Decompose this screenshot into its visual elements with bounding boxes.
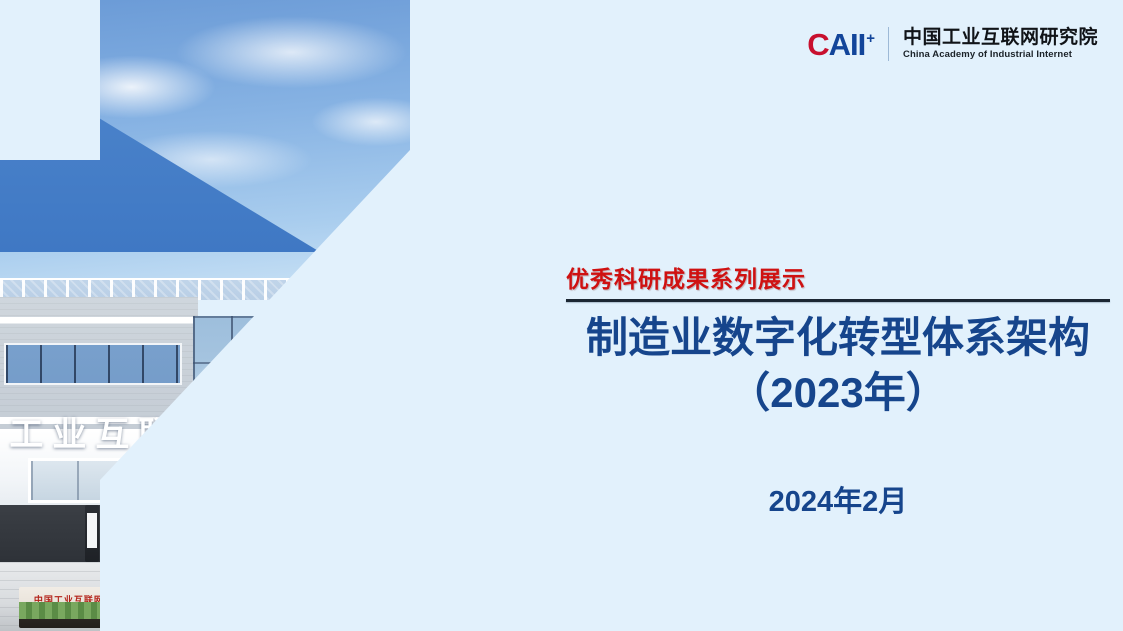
logo-wordmark: 中国工业互联网研究院 China Academy of Industrial I… [903, 28, 1098, 60]
title-divider-rule [566, 299, 1110, 302]
publication-date: 2024年2月 [560, 478, 1116, 520]
title-line-1: 制造业数字化转型体系架构 [586, 314, 1090, 361]
series-eyebrow: 优秀科研成果系列展示 [566, 260, 806, 294]
entrance-pillar [85, 505, 99, 562]
logo-letters-aii: AII [829, 29, 866, 60]
building-name-sign: 工业互联网大厦 [9, 407, 329, 456]
planter-shrubs [19, 602, 169, 619]
podium-glazing [28, 458, 319, 504]
logo-name-cn: 中国工业互联网研究院 [903, 28, 1098, 48]
logo-name-en: China Academy of Industrial Internet [903, 50, 1098, 60]
logo-letter-c: C [807, 29, 828, 60]
building-illustration: 工业互联网大厦 中国工业互联网研究院 [0, 0, 470, 631]
page-title: 制造业数字化转型体系架构 （2023年） [560, 310, 1116, 421]
title-line-2: （2023年） [560, 365, 1116, 420]
window-row [614, 559, 710, 589]
flower-bed [254, 540, 278, 565]
logo-divider [888, 27, 889, 61]
organization-logo: C AII + 中国工业互联网研究院 China Academy of Indu… [807, 27, 1098, 61]
title-slide: 工业互联网大厦 中国工业互联网研究院 [0, 0, 1123, 631]
logo-mark: C AII + [807, 29, 874, 60]
entrance-pillar [146, 505, 160, 562]
logo-plus-icon: + [866, 31, 874, 46]
building-photo: 工业互联网大厦 中国工业互联网研究院 [0, 0, 470, 631]
window-row [4, 343, 182, 385]
entrance-planter: 中国工业互联网研究院 [19, 587, 169, 628]
